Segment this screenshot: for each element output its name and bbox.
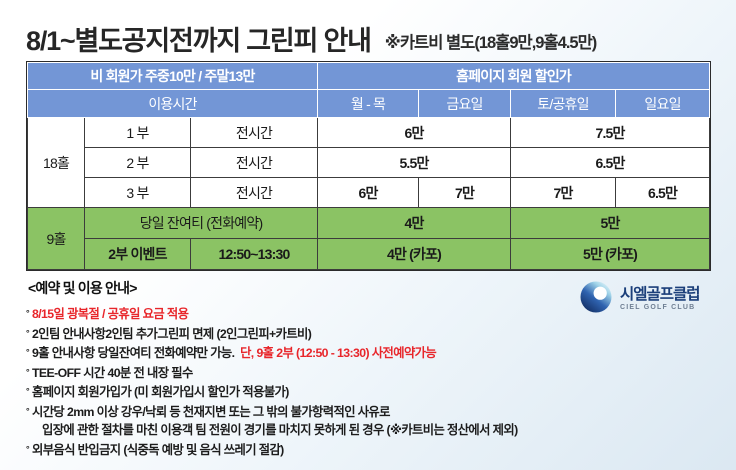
cell-9h-sameday-desc: 당일 잔여티 (전화예약): [85, 208, 318, 239]
cell-9h-event-name: 2부 이벤트: [85, 239, 191, 270]
greenfee-price-table: 비 회원가 주중10만 / 주말13만 홈페이지 회원 할인가 이용시간 월 -…: [27, 62, 710, 270]
cell-18h-part3-time: 전시간: [191, 178, 318, 208]
cell-9h-sameday-weekday-price: 4만: [318, 208, 511, 239]
note-text: 9홀 안내사항 당일잔여티 전화예약만 가능.: [32, 346, 234, 360]
note-text: 시간당 2mm 이상 강우/낙뢰 등 천재지변 또는 그 밖의 불가항력적인 사…: [32, 405, 390, 419]
note-text: 입장에 관한 절차를 마친 이용객 팀 전원이 경기를 마치지 못하게 된 경우…: [42, 423, 518, 437]
cell-18h-part3-name: 3 부: [85, 178, 191, 208]
bullet-icon: °: [26, 347, 29, 357]
cell-18h-part3-friday-price: 7만: [419, 178, 511, 208]
header-day-sunday: 일요일: [616, 90, 710, 118]
cell-18h-part3-saturday-price: 7만: [511, 178, 616, 208]
cell-9h-event-weekend-price: 5만 (카포): [511, 239, 710, 270]
bullet-icon: °: [26, 406, 29, 416]
note-text: 2인팀 안내사항2인팀 추가그린피 면제 (2인그린피+카트비): [32, 327, 311, 341]
logo-text-block: 시엘골프클럽 CIEL GOLF CLUB: [620, 286, 700, 313]
note-item: °시간당 2mm 이상 강우/낙뢰 등 천재지변 또는 그 밖의 불가항력적인 …: [26, 402, 716, 422]
note-item: °2인팀 안내사항2인팀 추가그린피 면제 (2인그린피+카트비): [26, 324, 716, 344]
cell-9h-event-weekday-price: 4만 (카포): [318, 239, 511, 270]
table-subheader-row: 이용시간 월 - 목 금요일 토/공휴일 일요일: [28, 90, 710, 118]
cell-18h-part3-sunday-price: 6.5만: [616, 178, 710, 208]
cell-18h-part1-weekday-price: 6만: [318, 118, 511, 148]
header-nonmember-price: 비 회원가 주중10만 / 주말13만: [28, 63, 318, 90]
note-text: 홈페이지 회원가입가 (미 회원가입시 할인가 적용불가): [32, 385, 289, 399]
cell-18h-part2-weekend-price: 6.5만: [511, 148, 710, 178]
cell-9h-event-time: 12:50~13:30: [191, 239, 318, 270]
header-day-friday: 금요일: [419, 90, 511, 118]
cell-9h-sameday-weekend-price: 5만: [511, 208, 710, 239]
page-title: 8/1~별도공지전까지 그린피 안내: [26, 26, 371, 56]
table-row: 9홀 당일 잔여티 (전화예약) 4만 5만: [28, 208, 710, 239]
table-row: 2 부 전시간 5.5만 6.5만: [28, 148, 710, 178]
cell-18h-part2-weekday-price: 5.5만: [318, 148, 511, 178]
note-text: 8/15일 광복절 / 공휴일 요금 적용: [32, 307, 188, 321]
cart-fee-note: ※카트비 별도(18홀9만,9홀4.5만): [385, 32, 596, 56]
bullet-icon: °: [26, 444, 29, 454]
bullet-icon: °: [26, 328, 29, 338]
table-row: 2부 이벤트 12:50~13:30 4만 (카포) 5만 (카포): [28, 239, 710, 270]
note-item-continuation: 입장에 관한 절차를 마친 이용객 팀 전원이 경기를 마치지 못하게 된 경우…: [26, 421, 716, 440]
cell-18h-part2-name: 2 부: [85, 148, 191, 178]
section-label-18holes: 18홀: [28, 118, 85, 208]
section-label-9holes: 9홀: [28, 208, 85, 270]
note-text: 외부음식 반입금지 (식중독 예방 및 음식 쓰레기 절감): [32, 443, 284, 457]
header-member-discount: 홈페이지 회원 할인가: [318, 63, 710, 90]
club-logo: 시엘골프클럽 CIEL GOLF CLUB: [578, 279, 728, 319]
note-item: °TEE-OFF 시간 40분 전 내장 필수: [26, 363, 716, 383]
note-item: °외부음식 반입금지 (식중독 예방 및 음식 쓰레기 절감): [26, 440, 716, 460]
ciel-mark-icon: [578, 279, 614, 320]
bullet-icon: °: [26, 386, 29, 396]
note-text-highlight: 단, 9홀 2부 (12:50 - 13:30) 사전예약가능: [240, 346, 436, 360]
table-group-header-row: 비 회원가 주중10만 / 주말13만 홈페이지 회원 할인가: [28, 63, 710, 90]
table-row: 3 부 전시간 6만 7만 7만 6.5만: [28, 178, 710, 208]
cell-18h-part3-mon-thu-price: 6만: [318, 178, 419, 208]
page-header: 8/1~별도공지전까지 그린피 안내 ※카트비 별도(18홀9만,9홀4.5만): [26, 18, 724, 56]
bullet-icon: °: [26, 308, 29, 318]
cell-18h-part2-time: 전시간: [191, 148, 318, 178]
logo-name-ko: 시엘골프클럽: [620, 286, 700, 303]
header-day-mon-thu: 월 - 목: [318, 90, 419, 118]
table-row: 18홀 1 부 전시간 6만 7.5만: [28, 118, 710, 148]
note-text: TEE-OFF 시간 40분 전 내장 필수: [32, 366, 193, 380]
cell-18h-part1-weekend-price: 7.5만: [511, 118, 710, 148]
note-item: °9홀 안내사항 당일잔여티 전화예약만 가능. 단, 9홀 2부 (12:50…: [26, 343, 716, 363]
note-item: °홈페이지 회원가입가 (미 회원가입시 할인가 적용불가): [26, 382, 716, 402]
cell-18h-part1-name: 1 부: [85, 118, 191, 148]
bullet-icon: °: [26, 367, 29, 377]
header-play-time: 이용시간: [28, 90, 318, 118]
cell-18h-part1-time: 전시간: [191, 118, 318, 148]
header-day-saturday-holiday: 토/공휴일: [511, 90, 616, 118]
logo-name-en: CIEL GOLF CLUB: [620, 303, 700, 313]
